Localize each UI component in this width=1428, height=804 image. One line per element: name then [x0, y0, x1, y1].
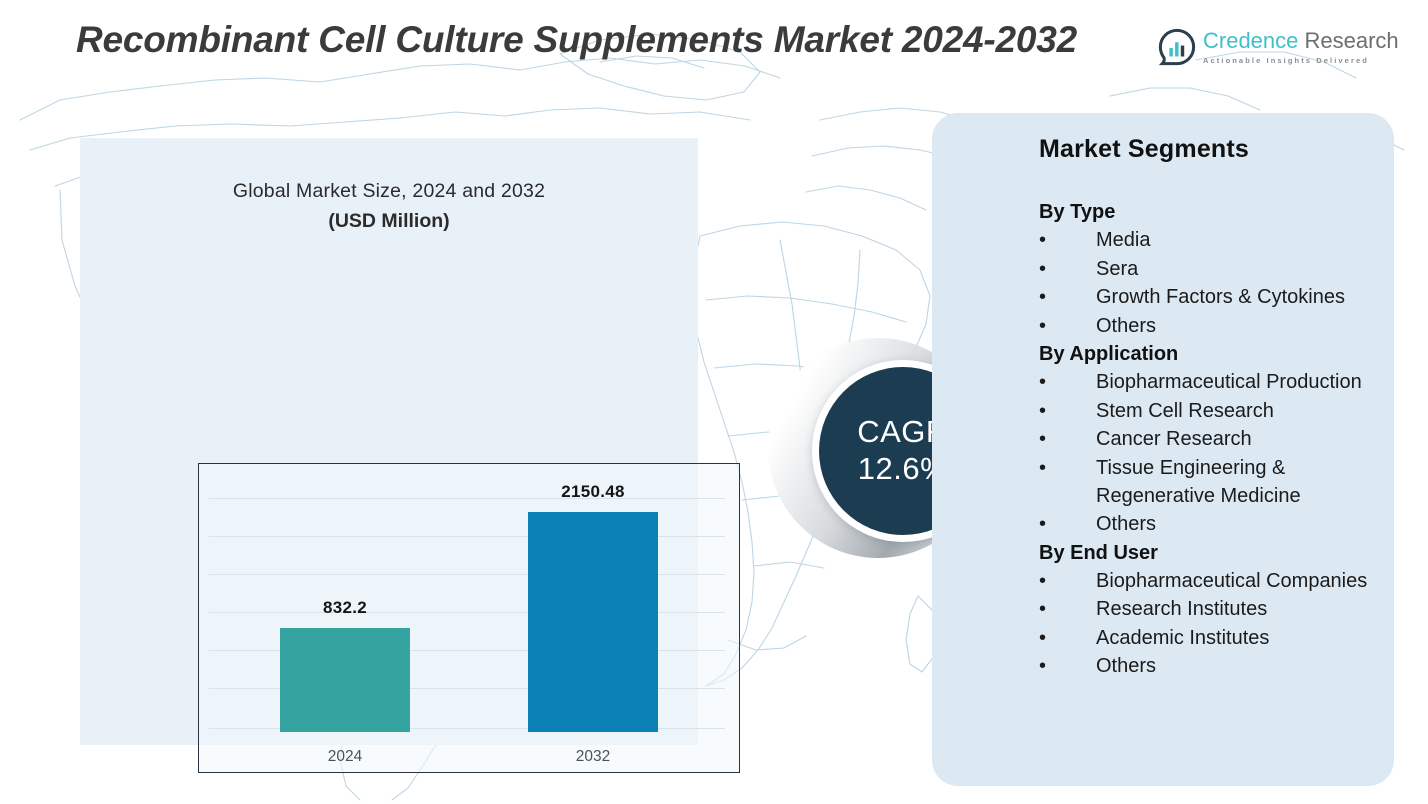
list-item[interactable]: •Tissue Engineering & Regenerative Medic… — [1039, 454, 1370, 511]
infographic-canvas: Recombinant Cell Culture Supplements Mar… — [0, 0, 1428, 804]
bullet-icon: • — [1039, 425, 1096, 453]
list-item[interactable]: •Cancer Research — [1039, 425, 1370, 453]
list-item-label: Others — [1096, 513, 1156, 535]
list-item-label: Others — [1096, 655, 1156, 677]
segment-group-by-type: By Type •Media •Sera •Growth Factors & C… — [1039, 198, 1370, 340]
list-item-label: Tissue Engineering & Regenerative Medici… — [1096, 457, 1301, 507]
list-item-label: Biopharmaceutical Production — [1096, 371, 1362, 393]
segment-list: •Biopharmaceutical Production •Stem Cell… — [1039, 368, 1370, 538]
list-item[interactable]: •Others — [1039, 510, 1370, 538]
chart-subtitle-line: (USD Million) — [80, 210, 698, 233]
segment-group-by-end-user: By End User •Biopharmaceutical Companies… — [1039, 539, 1370, 681]
list-item[interactable]: •Sera — [1039, 255, 1370, 283]
segments-heading: Market Segments — [1039, 135, 1370, 164]
bar-value-label: 2150.48 — [561, 482, 625, 502]
list-item-label: Media — [1096, 229, 1150, 251]
page-title: Recombinant Cell Culture Supplements Mar… — [76, 14, 1176, 67]
bullet-icon: • — [1039, 652, 1096, 680]
logo-text: Credence Research Actionable Insights De… — [1203, 28, 1399, 65]
bar-value-label: 832.2 — [323, 598, 367, 618]
plot-area: 832.2 2150.48 2024 2032 — [199, 464, 739, 772]
list-item-label: Others — [1096, 315, 1156, 337]
bullet-icon: • — [1039, 454, 1096, 482]
list-item-label: Research Institutes — [1096, 598, 1267, 620]
segment-group-title: By End User — [1039, 539, 1370, 567]
segment-list: •Biopharmaceutical Companies •Research I… — [1039, 567, 1370, 681]
bullet-icon: • — [1039, 397, 1096, 425]
bar-2024 — [280, 628, 410, 732]
chart-bubble-icon — [1158, 28, 1196, 66]
bar-chart: 832.2 2150.48 2024 2032 — [198, 463, 740, 773]
bullet-icon: • — [1039, 283, 1096, 311]
logo-wordmark: Credence Research — [1203, 30, 1399, 52]
logo-tagline: Actionable Insights Delivered — [1203, 56, 1399, 65]
segment-list: •Media •Sera •Growth Factors & Cytokines… — [1039, 226, 1370, 340]
x-axis-labels: 2024 2032 — [199, 734, 739, 774]
segment-group-title: By Application — [1039, 340, 1370, 368]
logo-name-primary: Credence — [1203, 28, 1298, 53]
bullet-icon: • — [1039, 567, 1096, 595]
brand-logo: Credence Research Actionable Insights De… — [1158, 28, 1399, 66]
list-item-label: Biopharmaceutical Companies — [1096, 570, 1367, 592]
list-item-label: Growth Factors & Cytokines — [1096, 286, 1345, 308]
list-item[interactable]: •Others — [1039, 312, 1370, 340]
list-item[interactable]: •Media — [1039, 226, 1370, 254]
segment-group-title: By Type — [1039, 198, 1370, 226]
bullet-icon: • — [1039, 312, 1096, 340]
list-item[interactable]: •Biopharmaceutical Companies — [1039, 567, 1370, 595]
list-item[interactable]: •Stem Cell Research — [1039, 397, 1370, 425]
list-item[interactable]: •Growth Factors & Cytokines — [1039, 283, 1370, 311]
list-item[interactable]: •Academic Institutes — [1039, 624, 1370, 652]
list-item-label: Sera — [1096, 258, 1138, 280]
list-item-label: Academic Institutes — [1096, 627, 1269, 649]
bar-item-2024: 832.2 — [265, 464, 425, 732]
market-segments-panel: Market Segments By Type •Media •Sera •Gr… — [932, 113, 1394, 786]
x-axis-tick-2024: 2024 — [265, 734, 425, 774]
chart-title-line: Global Market Size, 2024 and 2032 — [80, 180, 698, 203]
bar-2032 — [528, 512, 658, 732]
bar-series: 832.2 2150.48 — [199, 464, 739, 732]
bullet-icon: • — [1039, 510, 1096, 538]
chart-title: Global Market Size, 2024 and 2032 (USD M… — [80, 180, 698, 233]
list-item-label: Stem Cell Research — [1096, 400, 1274, 422]
bullet-icon: • — [1039, 368, 1096, 396]
segment-group-by-application: By Application •Biopharmaceutical Produc… — [1039, 340, 1370, 539]
list-item[interactable]: •Others — [1039, 652, 1370, 680]
list-item[interactable]: •Biopharmaceutical Production — [1039, 368, 1370, 396]
list-item-label: Cancer Research — [1096, 428, 1252, 450]
list-item[interactable]: •Research Institutes — [1039, 595, 1370, 623]
bullet-icon: • — [1039, 624, 1096, 652]
x-axis-tick-2032: 2032 — [513, 734, 673, 774]
logo-name-secondary: Research — [1298, 28, 1398, 53]
chart-panel: Global Market Size, 2024 and 2032 (USD M… — [80, 138, 698, 745]
bullet-icon: • — [1039, 595, 1096, 623]
bar-item-2032: 2150.48 — [513, 464, 673, 732]
bullet-icon: • — [1039, 255, 1096, 283]
bullet-icon: • — [1039, 226, 1096, 254]
